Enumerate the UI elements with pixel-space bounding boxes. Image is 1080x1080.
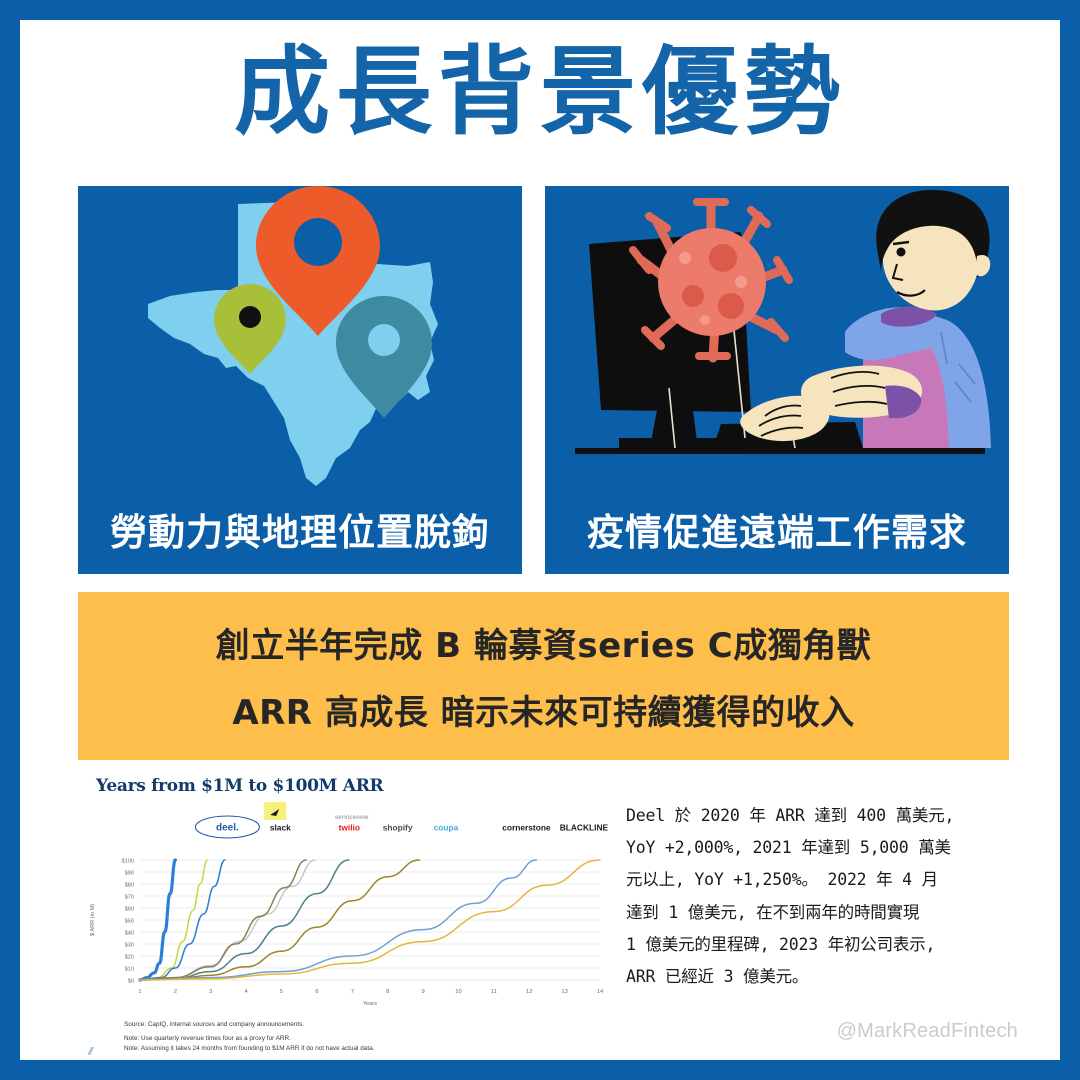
svg-text:$60: $60	[125, 907, 134, 913]
svg-text:8: 8	[386, 989, 389, 995]
chart-source-note: Source: CapIQ, internal sources and comp…	[124, 1020, 594, 1029]
banner-line-1: 創立半年完成 B 輪募資series C成獨角獸	[216, 618, 871, 667]
chart-logo-shopify: shopify	[383, 823, 413, 833]
svg-text:$50: $50	[125, 919, 134, 925]
chart-logo-twilio: twilio	[339, 823, 360, 833]
chart-logo-slack: slack	[270, 823, 291, 833]
chart-note-2: Note: Assuming it takes 24 months from f…	[124, 1044, 594, 1054]
svg-text:5: 5	[280, 989, 283, 995]
svg-text:10: 10	[455, 989, 461, 995]
svg-text:$40: $40	[125, 931, 134, 937]
svg-text:Years: Years	[363, 1001, 377, 1007]
chart-logo-deel: deel.	[216, 823, 239, 834]
infographic-canvas: 成長背景優勢	[0, 0, 1080, 1080]
chart-note-1: Note: Use quarterly revenue times four a…	[124, 1034, 594, 1044]
banner-line-2: ARR 高成長 暗示未來可持續獲得的收入	[232, 685, 854, 734]
svg-text:$10: $10	[125, 967, 134, 973]
svg-text:$100: $100	[122, 859, 134, 865]
chart-corner-mark: ///	[88, 1046, 91, 1058]
infographic-inner: 成長背景優勢	[20, 20, 1060, 1060]
svg-text:$0: $0	[128, 979, 134, 985]
panel-pandemic-remote-work: 疫情促進遠端工作需求	[545, 186, 1009, 574]
paragraph-line: 達到 1 億美元, 在不到兩年的時間實現	[626, 897, 1026, 929]
svg-text:13: 13	[561, 989, 567, 995]
chart-notes: Source: CapIQ, internal sources and comp…	[124, 1020, 594, 1054]
paragraph-line: Deel 於 2020 年 ARR 達到 400 萬美元,	[626, 800, 1026, 832]
svg-text:4: 4	[245, 989, 249, 995]
description-paragraph: Deel 於 2020 年 ARR 達到 400 萬美元, YoY +2,000…	[626, 800, 1026, 993]
person-figure	[740, 190, 991, 448]
svg-text:$30: $30	[125, 943, 134, 949]
panel-caption-workforce: 勞動力與地理位置脫鉤	[78, 502, 522, 556]
svg-text:1: 1	[138, 989, 141, 995]
chart-logo-coupa: coupa	[434, 823, 459, 833]
svg-text:$ ARR (in M): $ ARR (in M)	[90, 904, 96, 936]
svg-text:$20: $20	[125, 955, 134, 961]
chart-logo-cornerstone: cornerstone	[502, 823, 551, 833]
svg-text:2: 2	[174, 989, 177, 995]
svg-text:$70: $70	[125, 895, 134, 901]
remote-work-illustration	[545, 186, 1009, 496]
texas-map-illustration	[78, 186, 522, 496]
svg-text:11: 11	[491, 989, 497, 995]
panel-caption-remote: 疫情促進遠端工作需求	[545, 502, 1009, 556]
arr-growth-chart: Years from $1M to $100M ARR $0$10$20$30$…	[78, 768, 608, 1063]
paragraph-line: 元以上, YoY +1,250%。 2022 年 4 月	[626, 864, 1026, 896]
svg-text:6: 6	[315, 989, 318, 995]
svg-text:3: 3	[209, 989, 212, 995]
chart-plot-area: $0$10$20$30$40$50$60$70$80$90$1001234567…	[78, 798, 608, 1023]
chart-logo-blackline: BLACKLINE	[560, 823, 608, 833]
page-title: 成長背景優勢	[20, 40, 1060, 146]
svg-text:14: 14	[597, 989, 604, 995]
svg-text:$80: $80	[125, 883, 134, 889]
svg-text:12: 12	[526, 989, 532, 995]
highlight-banner: 創立半年完成 B 輪募資series C成獨角獸 ARR 高成長 暗示未來可持續…	[78, 592, 1009, 760]
paragraph-line: ARR 已經近 3 億美元。	[626, 961, 1026, 993]
watermark: @MarkReadFintech	[837, 1020, 1018, 1043]
svg-text:9: 9	[421, 989, 424, 995]
svg-text:7: 7	[351, 989, 354, 995]
svg-text:$90: $90	[125, 871, 134, 877]
panel-workforce-geography: 勞動力與地理位置脫鉤	[78, 186, 522, 574]
paragraph-line: YoY +2,000%, 2021 年達到 5,000 萬美	[626, 832, 1026, 864]
chart-logo-servicenow: servicenow	[335, 814, 369, 821]
chart-title: Years from $1M to $100M ARR	[96, 776, 383, 796]
paragraph-line: 1 億美元的里程碑, 2023 年初公司表示,	[626, 929, 1026, 961]
